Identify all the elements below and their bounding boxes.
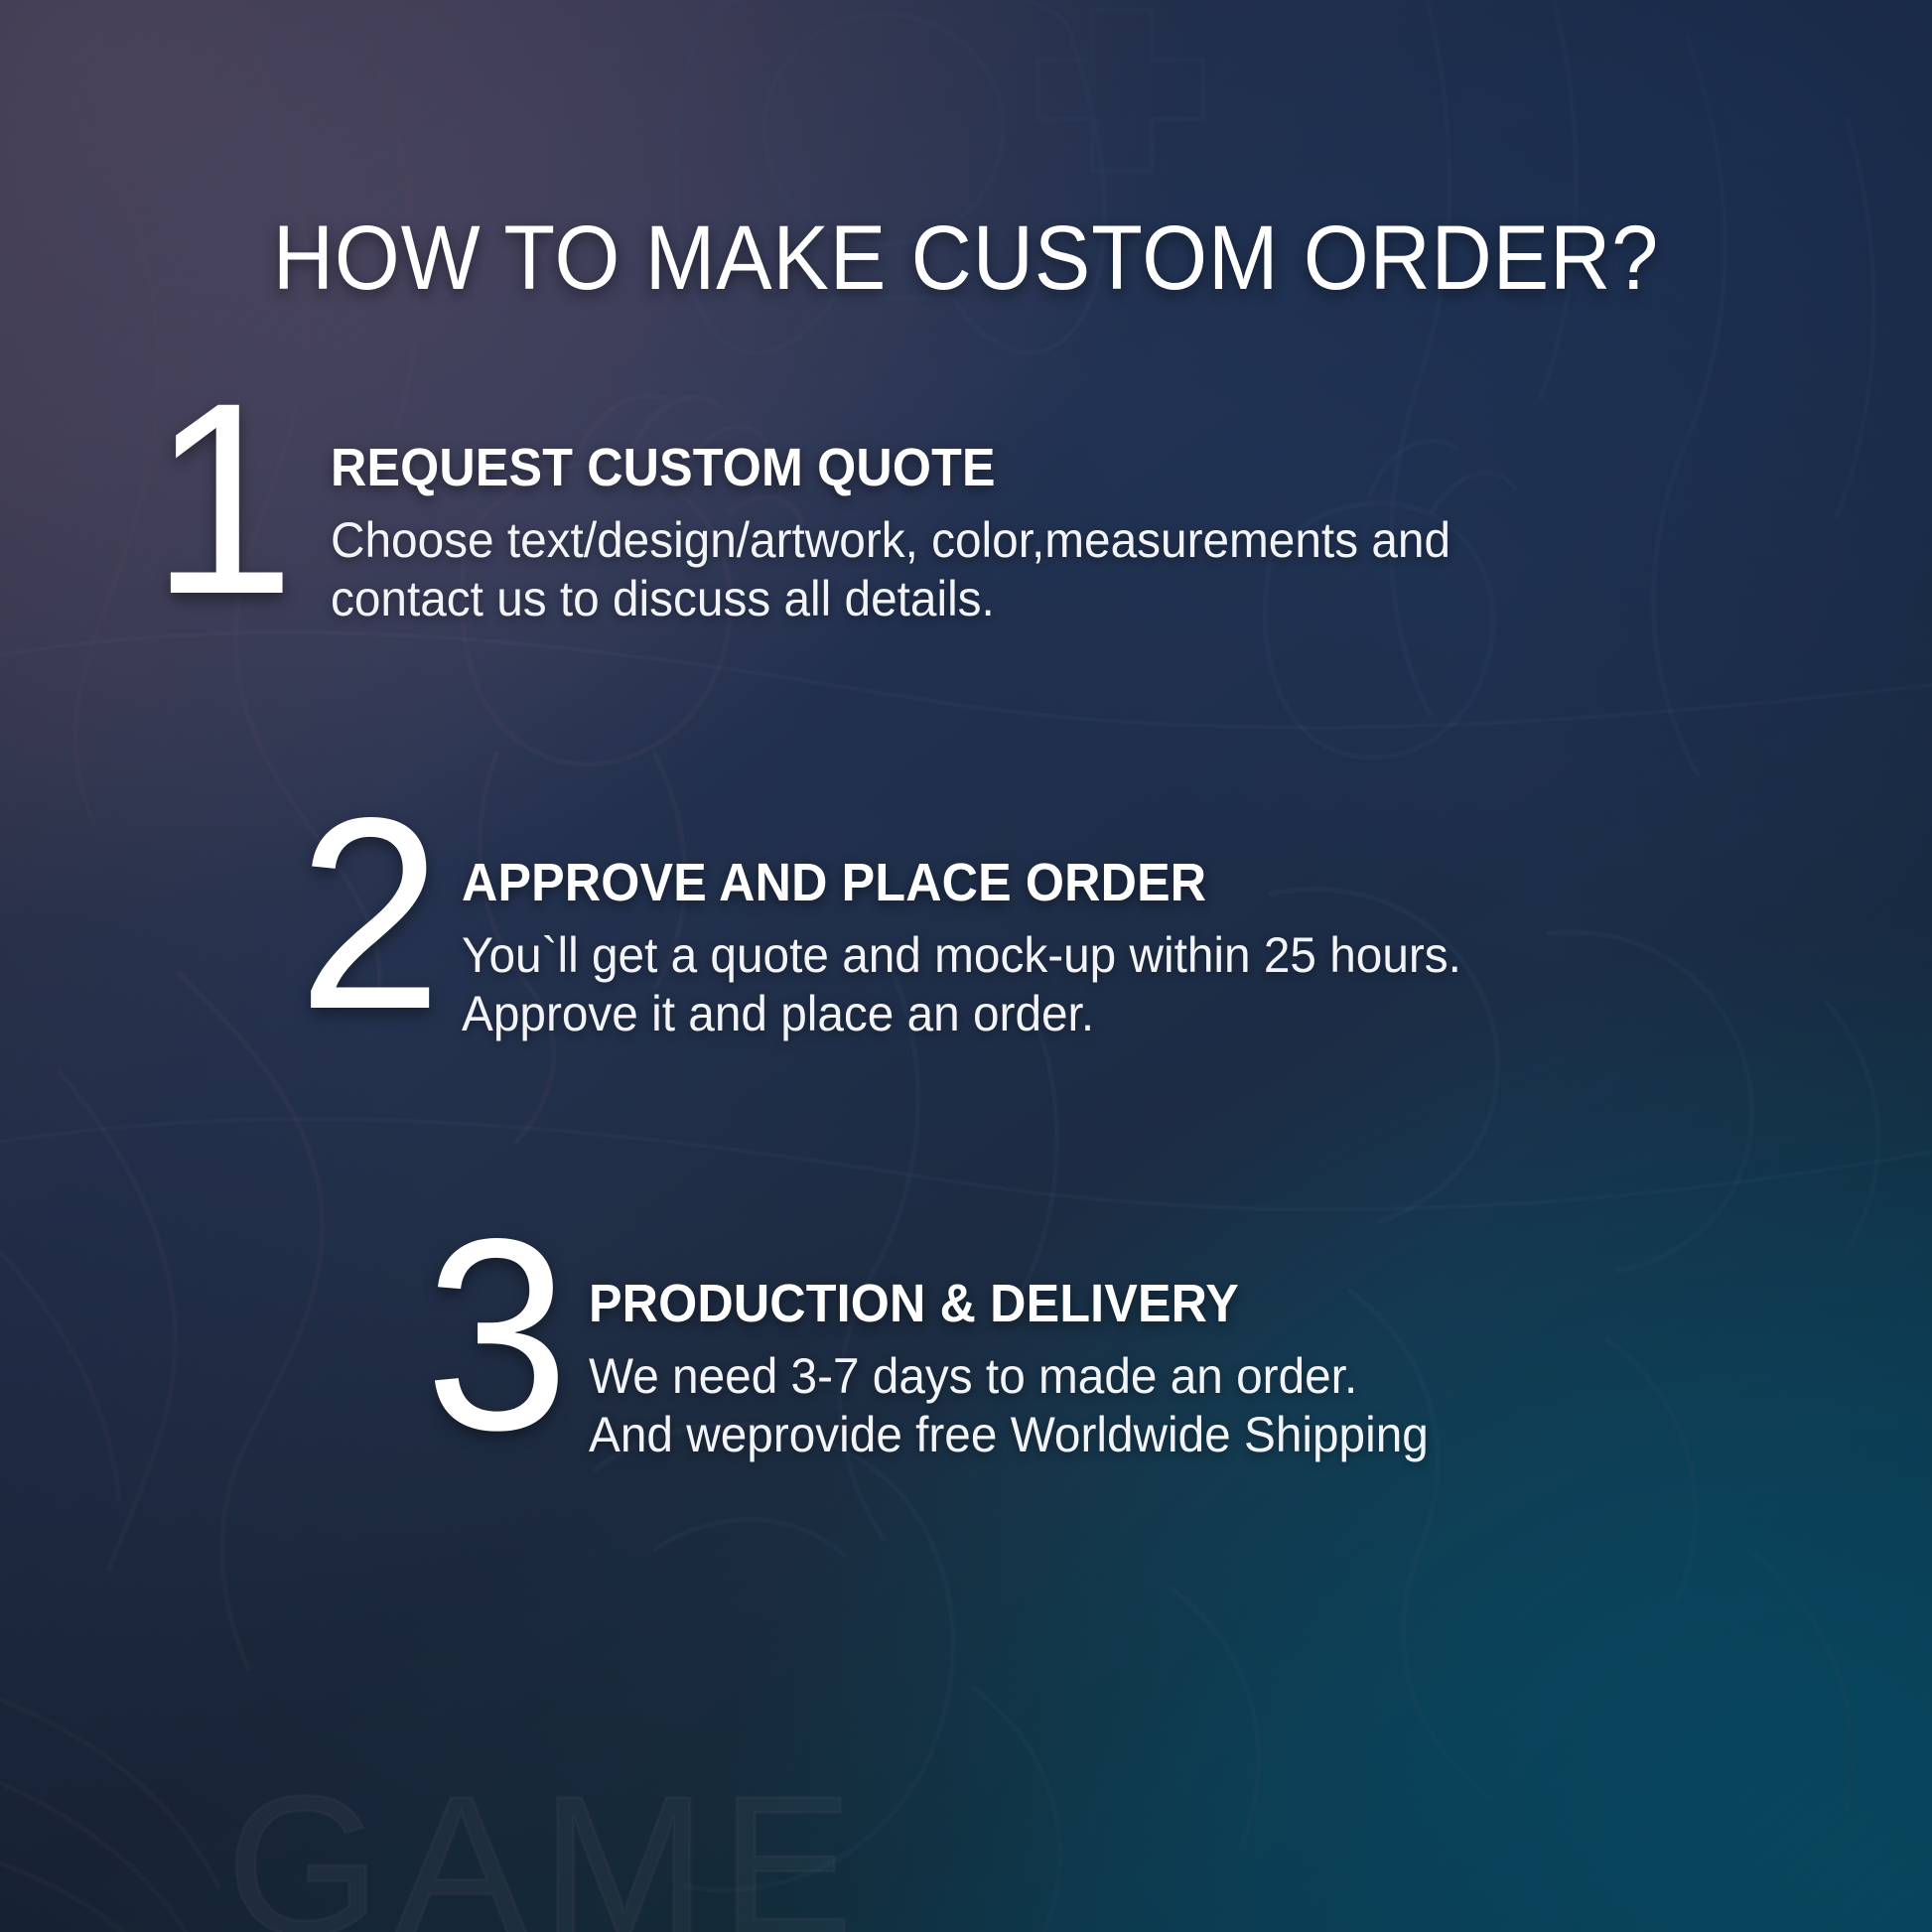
- step-number-2: 2: [298, 816, 437, 1013]
- step-item-3: 3 PRODUCTION & DELIVERY We need 3-7 days…: [425, 1253, 1914, 1464]
- step-description-2-line-1: You`ll get a quote and mock-up within 25…: [462, 926, 1822, 985]
- step-item-2: 2 APPROVE AND PLACE ORDER You`ll get a q…: [298, 832, 1886, 1043]
- poster-canvas: HOW TO MAKE CUSTOM ORDER? 1 REQUEST CUST…: [0, 0, 1932, 1932]
- step-description-2-line-2: Approve it and place an order.: [462, 985, 1822, 1043]
- step-description-3-line-1: We need 3-7 days to made an order.: [589, 1347, 1855, 1406]
- page-title: HOW TO MAKE CUSTOM ORDER?: [77, 212, 1855, 304]
- step-heading-3: PRODUCTION & DELIVERY: [589, 1277, 1822, 1331]
- step-description-2: You`ll get a quote and mock-up within 25…: [462, 926, 1822, 1043]
- step-description-1-line-1: Choose text/design/artwork, color,measur…: [331, 511, 1450, 570]
- step-description-3: We need 3-7 days to made an order. And w…: [589, 1347, 1855, 1464]
- step-number-3: 3: [425, 1237, 564, 1434]
- step-number-1: 1: [151, 401, 290, 598]
- step-body-2: APPROVE AND PLACE ORDER You`ll get a quo…: [462, 832, 1886, 1043]
- step-description-1: Choose text/design/artwork, color,measur…: [331, 511, 1450, 628]
- step-body-3: PRODUCTION & DELIVERY We need 3-7 days t…: [589, 1253, 1914, 1464]
- step-heading-1: REQUEST CUSTOM QUOTE: [331, 441, 1421, 495]
- step-description-1-line-2: contact us to discuss all details.: [331, 570, 1450, 628]
- step-heading-2: APPROVE AND PLACE ORDER: [462, 856, 1787, 910]
- game-watermark: GAME: [226, 1767, 867, 1932]
- step-body-1: REQUEST CUSTOM QUOTE Choose text/design/…: [331, 417, 1503, 628]
- step-item-1: 1 REQUEST CUSTOM QUOTE Choose text/desig…: [151, 417, 1471, 628]
- step-description-3-line-2: And weprovide free Worldwide Shipping: [589, 1406, 1855, 1464]
- content-area: HOW TO MAKE CUSTOM ORDER? 1 REQUEST CUST…: [0, 0, 1932, 1932]
